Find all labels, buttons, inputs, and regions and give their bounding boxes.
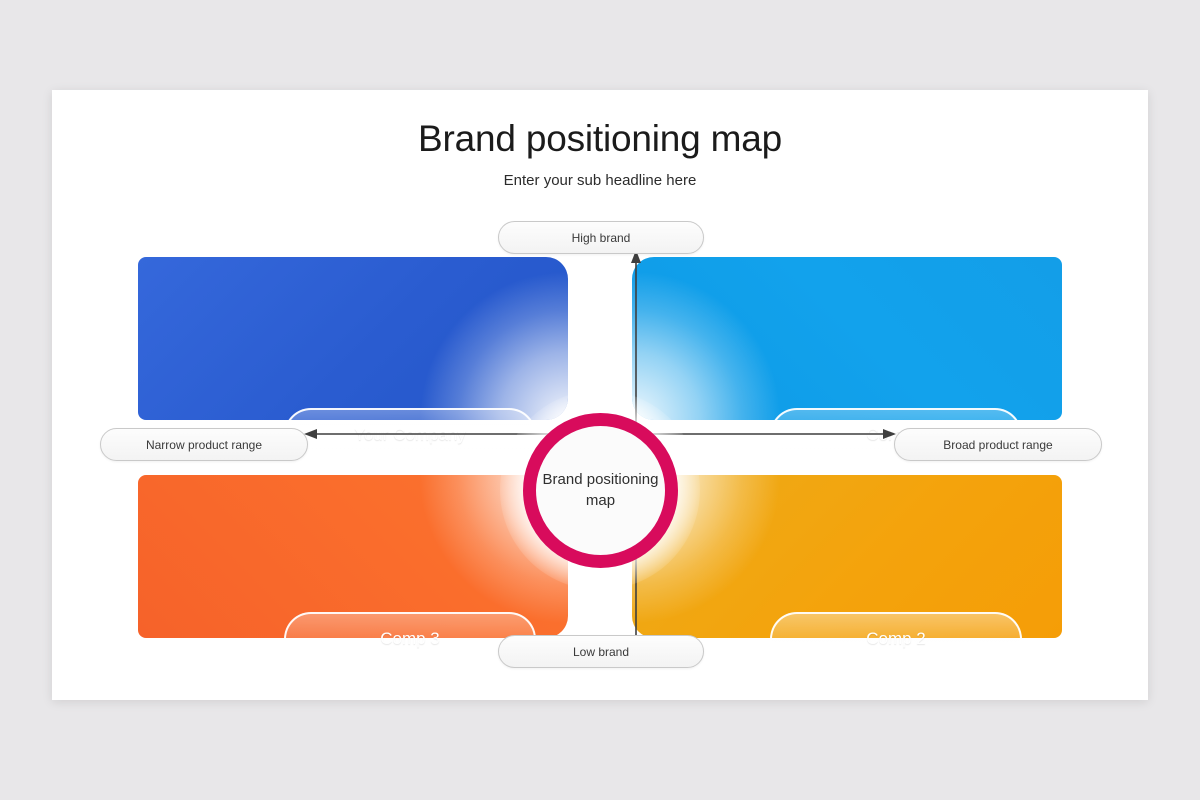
center-circle-label: Brand positioning map [536,470,665,511]
axis-label-text: High brand [572,231,631,245]
axis-label-narrow-product-range[interactable]: Narrow product range [100,428,308,461]
axis-label-high-brand[interactable]: High brand [498,221,704,254]
quadrant-button-label: Comp 2 [866,629,926,649]
center-glow-bleed [418,270,568,420]
quadrant-button-your-company[interactable]: Your Company [284,408,536,462]
axis-label-text: Low brand [573,645,629,659]
quadrant-button-label: Comp 3 [380,629,440,649]
slide-canvas: Brand positioning map Enter your sub hea… [52,90,1148,700]
quadrant-button-comp-3[interactable]: Comp 3 [284,612,536,666]
brand-positioning-matrix: Your Company Comp 1 Comp 3 Comp 2 High b… [52,90,1148,700]
quadrant-top-left[interactable] [138,257,568,420]
quadrant-button-label: Your Company [354,425,466,445]
center-circle[interactable]: Brand positioning map [523,413,678,568]
axis-label-low-brand[interactable]: Low brand [498,635,704,668]
quadrant-top-right[interactable] [632,257,1062,420]
axis-label-broad-product-range[interactable]: Broad product range [894,428,1102,461]
axis-label-text: Broad product range [943,438,1052,452]
quadrant-button-comp-2[interactable]: Comp 2 [770,612,1022,666]
center-glow-bleed [632,270,782,420]
axis-label-text: Narrow product range [146,438,262,452]
